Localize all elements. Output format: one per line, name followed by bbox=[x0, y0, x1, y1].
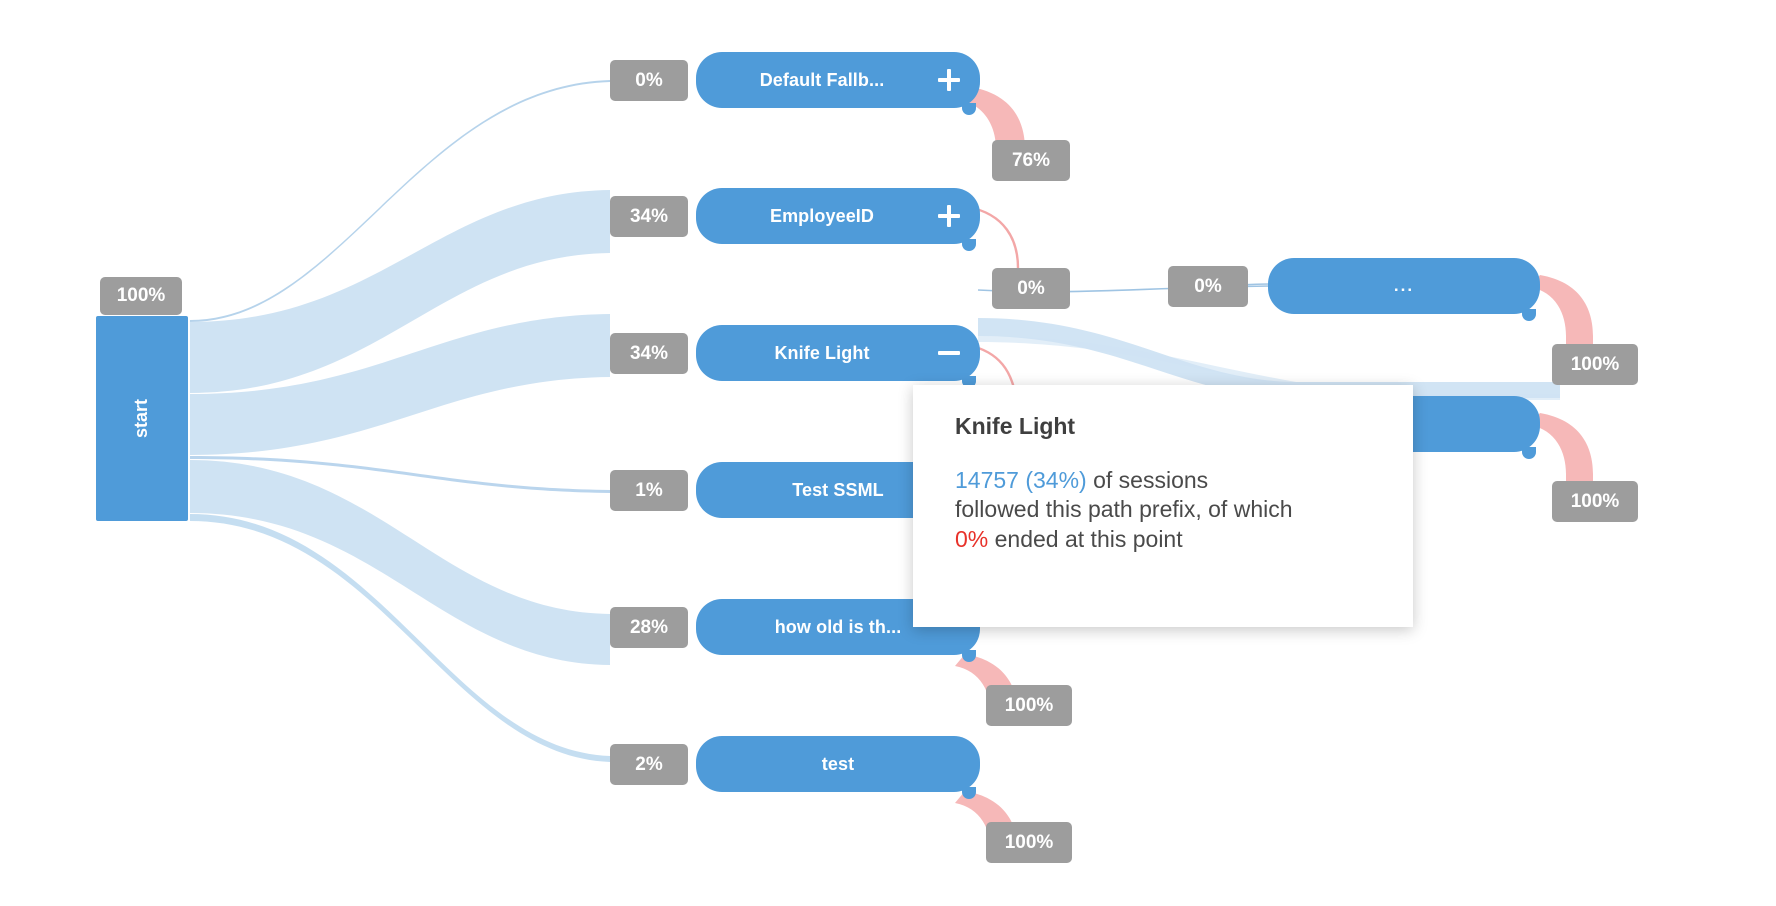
sankey-diagram-canvas: 100% start 0% Default Fallb... 76% 34% E… bbox=[0, 0, 1776, 906]
start-node-label: start bbox=[131, 399, 152, 438]
badge-ellipsis-top-in: 0% bbox=[1168, 266, 1248, 307]
tooltip-sessions-value: 14757 (34%) bbox=[955, 467, 1087, 493]
node-tooltip: Knife Light 14757 (34%) of sessions foll… bbox=[913, 385, 1413, 627]
start-node[interactable]: start bbox=[96, 316, 188, 521]
node-label-test: test bbox=[714, 754, 962, 775]
tooltip-line-1: 14757 (34%) of sessions bbox=[955, 466, 1379, 495]
node-label-knife-light: Knife Light bbox=[714, 343, 930, 364]
badge-default-fallback: 0% bbox=[610, 60, 688, 101]
badge-how-old-is-the: 28% bbox=[610, 607, 688, 648]
badge-test: 2% bbox=[610, 744, 688, 785]
exit-badge-test: 100% bbox=[986, 822, 1072, 863]
tooltip-line3-rest: ended at this point bbox=[988, 526, 1182, 552]
tooltip-line-2: followed this path prefix, of which bbox=[955, 495, 1379, 524]
node-employeeid[interactable]: EmployeeID bbox=[696, 188, 980, 244]
expand-plus-icon-employeeid[interactable] bbox=[936, 203, 962, 229]
tooltip-ended-value: 0% bbox=[955, 526, 988, 552]
node-label-ellipsis-top: ... bbox=[1286, 276, 1522, 296]
tooltip-body: 14757 (34%) of sessions followed this pa… bbox=[955, 466, 1379, 554]
badge-test-ssml: 1% bbox=[610, 470, 688, 511]
start-badge: 100% bbox=[100, 277, 182, 315]
node-label-employeeid: EmployeeID bbox=[714, 206, 930, 227]
node-test[interactable]: test bbox=[696, 736, 980, 792]
exit-badge-default-fallback: 76% bbox=[992, 140, 1070, 181]
exit-badge-ellipsis-bottom: 100% bbox=[1552, 481, 1638, 522]
exit-badge-how-old-is-the: 100% bbox=[986, 685, 1072, 726]
badge-employeeid: 34% bbox=[610, 196, 688, 237]
badge-knife-light: 34% bbox=[610, 333, 688, 374]
exit-badge-employeeid: 0% bbox=[992, 268, 1070, 309]
tooltip-line1-rest: of sessions bbox=[1087, 467, 1208, 493]
collapse-minus-icon-knife-light[interactable] bbox=[936, 340, 962, 366]
node-default-fallback[interactable]: Default Fallb... bbox=[696, 52, 980, 108]
tooltip-title: Knife Light bbox=[955, 413, 1379, 440]
flow-start-to-how-old bbox=[190, 460, 610, 665]
node-label-default-fallback: Default Fallb... bbox=[714, 70, 930, 91]
exit-badge-ellipsis-top: 100% bbox=[1552, 344, 1638, 385]
tooltip-line-3: 0% ended at this point bbox=[955, 525, 1379, 554]
node-knife-light[interactable]: Knife Light bbox=[696, 325, 980, 381]
expand-plus-icon-default-fallback[interactable] bbox=[936, 67, 962, 93]
node-ellipsis-top[interactable]: ... bbox=[1268, 258, 1540, 314]
